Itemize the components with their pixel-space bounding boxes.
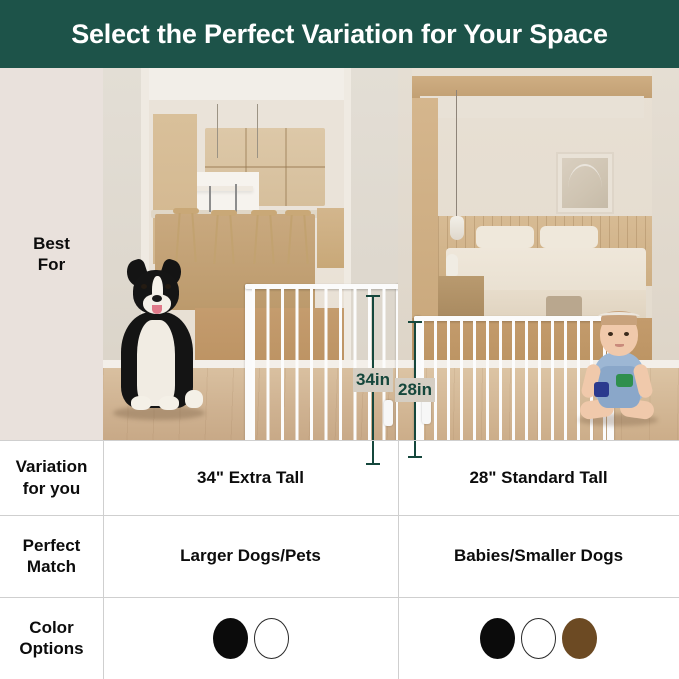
row-label-colors-line2: Options: [19, 638, 83, 659]
bar-stool: [173, 208, 199, 262]
baby-headband: [598, 312, 640, 321]
dimension-label-28in: 28in: [395, 378, 435, 402]
bedroom-pendant-cord: [456, 90, 457, 218]
baby-eye: [624, 332, 629, 336]
stool-leg: [213, 215, 218, 264]
row-label-best-for-line1: Best: [33, 233, 70, 254]
page-title: Select the Perfect Variation for Your Sp…: [71, 19, 608, 50]
bedroom-pendant-lamp: [450, 216, 464, 240]
row-label-variation-line1: Variation: [16, 456, 88, 477]
baby-eye: [608, 332, 613, 336]
dog-chest-fur: [137, 320, 175, 406]
gate-post-left: [245, 284, 252, 440]
row-label-match-line2: Match: [23, 556, 81, 577]
dimension-label-34in: 34in: [353, 368, 393, 392]
baby-mouth: [615, 344, 624, 347]
swatch-group-col1: [213, 618, 289, 659]
bar-stool: [285, 210, 311, 264]
border-collie-dog: [109, 264, 205, 424]
photo-bedroom-with-baby: [398, 68, 679, 440]
baby-toy-blue: [594, 382, 609, 397]
stool-leg: [269, 215, 274, 264]
table-row-color-options: Color Options: [0, 597, 679, 679]
table-row-variation: Variation for you 34" Extra Tall 28" Sta…: [0, 440, 679, 515]
bedroom-ceiling: [420, 96, 644, 118]
bar-stool: [251, 210, 277, 264]
kitchen-pendant-cord: [257, 104, 258, 158]
color-swatch-black[interactable]: [213, 618, 248, 659]
stool-leg: [191, 213, 196, 262]
kitchen-faucet: [235, 184, 237, 212]
dimension-annotation-28in: 28in: [407, 321, 423, 458]
dog-eye: [165, 284, 171, 289]
bedroom-ceiling-beam: [412, 76, 652, 98]
bedroom-wood-panel: [412, 98, 438, 348]
color-swatch-brown[interactable]: [562, 618, 597, 659]
row-label-perfect-match: Perfect Match: [0, 515, 103, 597]
comparison-table: Best For: [0, 68, 679, 679]
dimension-cap-top: [366, 295, 380, 297]
stool-leg: [229, 215, 234, 264]
kitchen-right-cabinet: [317, 208, 344, 268]
color-options-col2: [398, 597, 679, 679]
stool-seat: [211, 210, 237, 216]
color-swatch-black[interactable]: [480, 618, 515, 659]
bar-stool: [211, 210, 237, 264]
perfect-match-value-col1: Larger Dogs/Pets: [103, 515, 398, 597]
product-comparison-infographic: Select the Perfect Variation for Your Sp…: [0, 0, 679, 679]
kitchen-pendant-cord: [217, 104, 218, 158]
row-divider-3: [0, 597, 679, 598]
stool-leg: [287, 215, 292, 264]
row-label-best-for-line2: For: [33, 254, 70, 275]
row-label-color-options: Color Options: [0, 597, 103, 679]
header-banner: Select the Perfect Variation for Your Sp…: [0, 0, 679, 68]
dog-eye: [141, 284, 147, 289]
dog-tongue: [152, 305, 162, 314]
stool-seat: [285, 210, 311, 216]
row-divider-2: [0, 515, 679, 516]
row-label-variation: Variation for you: [0, 440, 103, 515]
variation-value-col1: 34" Extra Tall: [103, 440, 398, 515]
row-label-best-for: Best For: [0, 68, 103, 440]
dog-paw: [131, 396, 151, 410]
color-swatch-white[interactable]: [254, 618, 289, 659]
bed-pillow: [540, 226, 598, 248]
column-divider-2: [398, 440, 399, 679]
baby-child: [574, 306, 660, 430]
dog-nose: [152, 295, 162, 302]
column-divider-1: [103, 440, 104, 679]
row-label-colors-line1: Color: [19, 617, 83, 638]
swatch-group-col2: [480, 618, 597, 659]
stool-leg: [303, 215, 308, 264]
table-row-perfect-match: Perfect Match Larger Dogs/Pets Babies/Sm…: [0, 515, 679, 597]
gate-latch: [384, 400, 393, 426]
color-options-col1: [103, 597, 398, 679]
dog-shadow: [113, 406, 205, 420]
kitchen-faucet: [209, 186, 211, 212]
stool-leg: [253, 215, 258, 264]
perfect-match-value-col2: Babies/Smaller Dogs: [398, 515, 679, 597]
color-swatch-white[interactable]: [521, 618, 556, 659]
variation-value-col2: 28" Standard Tall: [398, 440, 679, 515]
dimension-cap-top: [408, 321, 422, 323]
baby-toy-green: [616, 374, 633, 387]
row-label-variation-line2: for you: [16, 478, 88, 499]
table-lamp: [446, 254, 458, 276]
bed-pillow: [476, 226, 534, 248]
dog-paw: [159, 396, 179, 410]
row-divider-1: [0, 440, 679, 441]
stool-seat: [251, 210, 277, 216]
row-label-match-line1: Perfect: [23, 535, 81, 556]
stool-seat: [173, 208, 199, 214]
stool-leg: [175, 213, 180, 262]
gate-latch: [422, 398, 431, 424]
dog-paw: [185, 390, 203, 408]
mirror-arch-reflection: [568, 164, 602, 212]
nightstand: [438, 276, 484, 318]
wall-mirror: [556, 152, 614, 214]
kitchen-cabinet-divider: [285, 128, 287, 206]
